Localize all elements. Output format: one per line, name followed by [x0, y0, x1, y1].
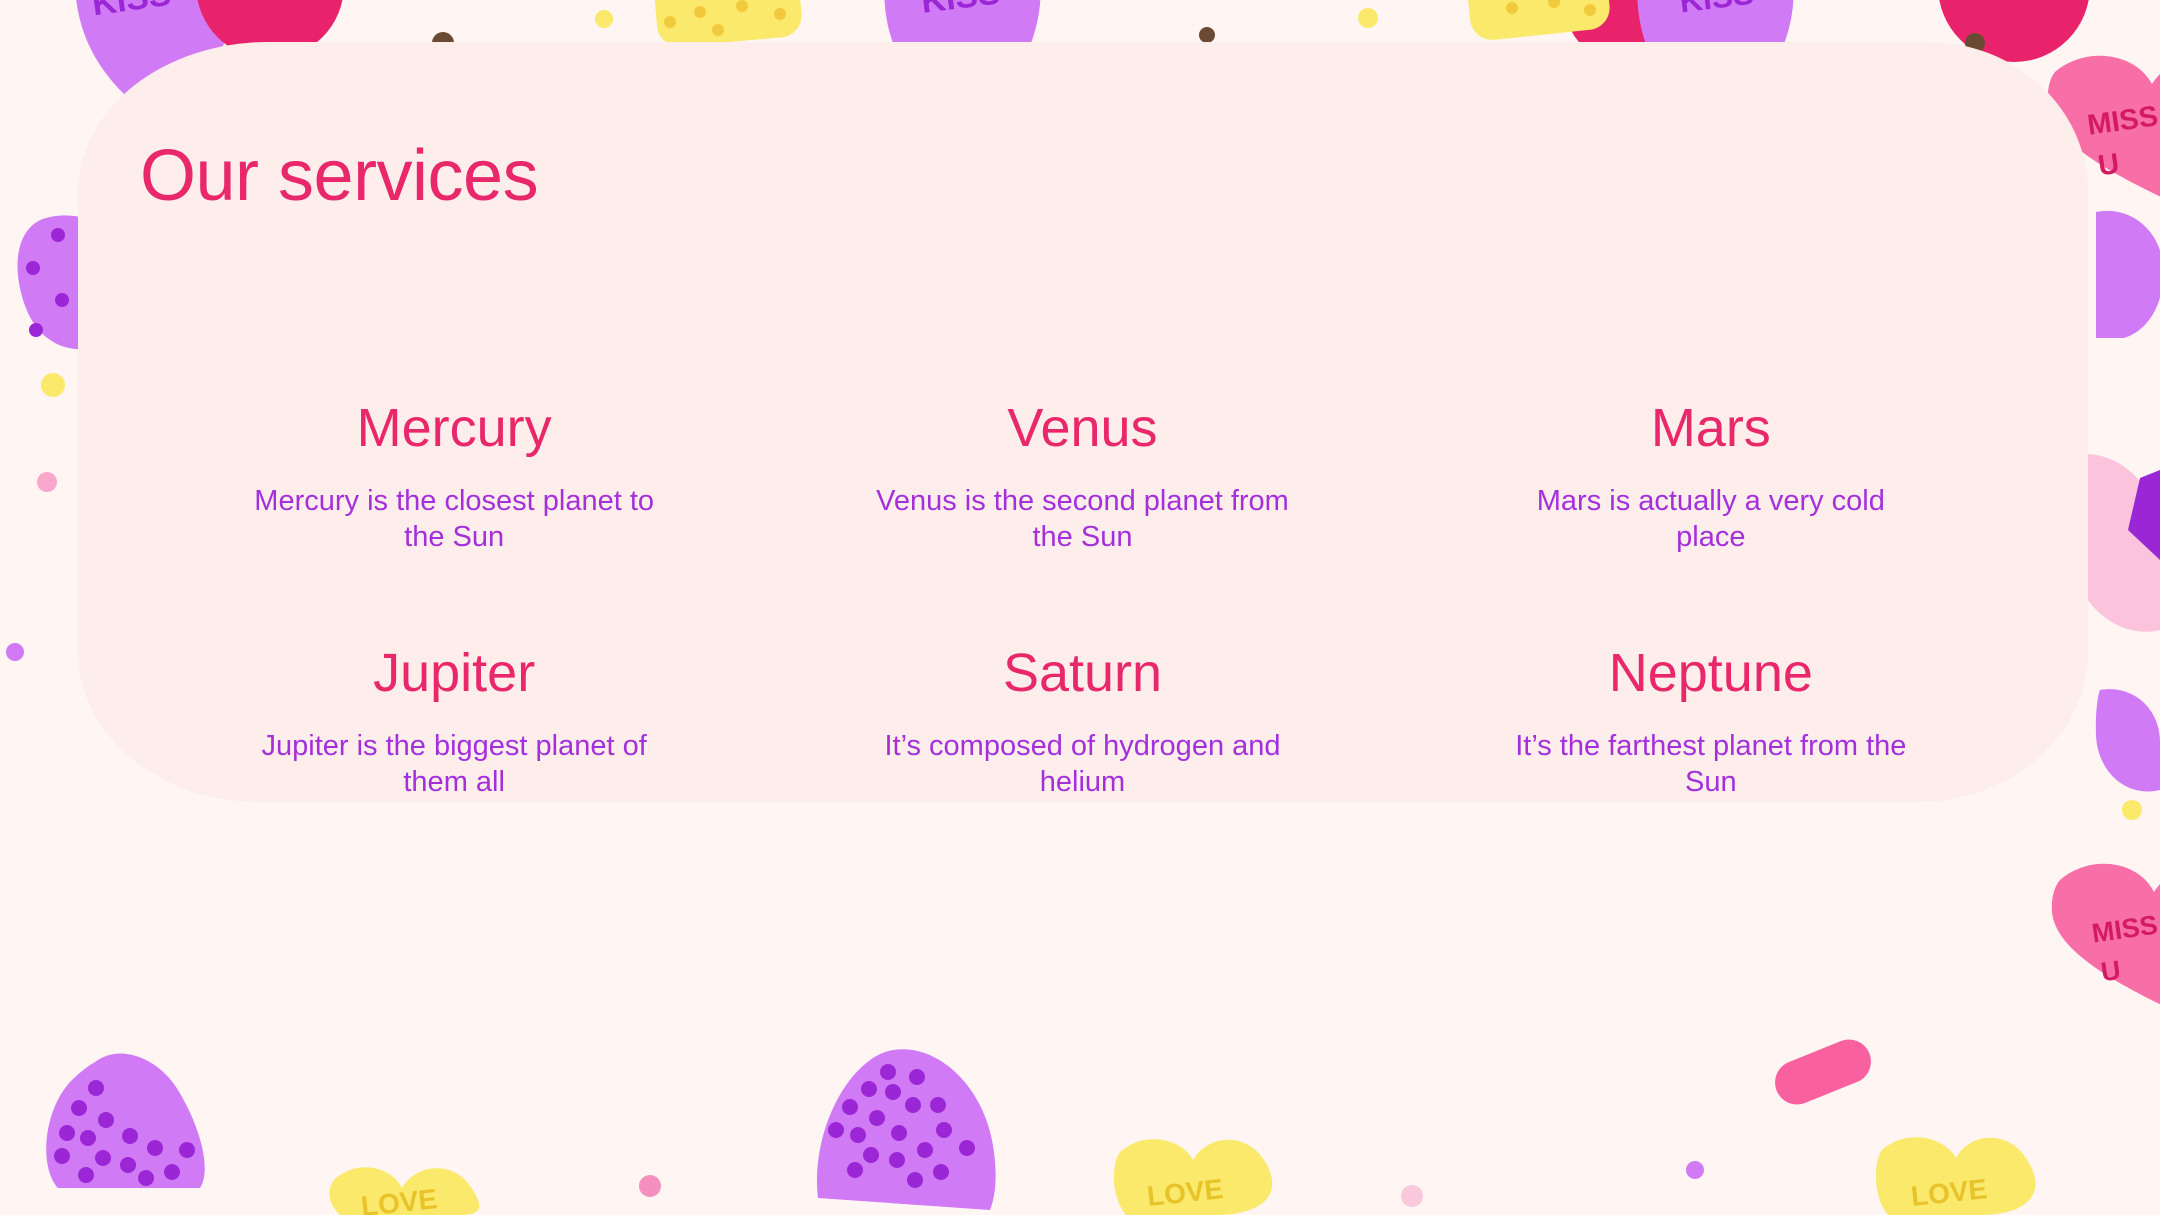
service-item-mercury[interactable]: Mercury Mercury is the closest planet to…	[140, 400, 768, 645]
confetti-dot	[1401, 1185, 1423, 1207]
service-description: Mars is actually a very cold place	[1501, 483, 1921, 556]
service-name: Jupiter	[200, 645, 708, 702]
service-name: Saturn	[828, 645, 1336, 702]
confetti-dot	[41, 373, 65, 397]
service-description: Venus is the second planet from the Sun	[872, 483, 1292, 556]
confetti-dot	[1199, 27, 1215, 43]
service-name: Neptune	[1457, 645, 1965, 702]
confetti-dot	[1358, 8, 1378, 28]
svg-text:U: U	[2096, 148, 2121, 183]
confetti-dot	[37, 472, 57, 492]
service-item-neptune[interactable]: Neptune It’s the farthest planet from th…	[1397, 645, 2025, 890]
service-description: It’s the farthest planet from the Sun	[1501, 728, 1921, 801]
svg-text:U: U	[2099, 955, 2122, 987]
page-title: Our services	[140, 140, 538, 212]
service-description: Mercury is the closest planet to the Sun	[244, 483, 664, 556]
service-name: Mars	[1457, 400, 1965, 457]
confetti-dot	[2122, 800, 2142, 820]
service-description: Jupiter is the biggest planet of them al…	[244, 728, 664, 801]
service-item-saturn[interactable]: Saturn It’s composed of hydrogen and hel…	[768, 645, 1396, 890]
confetti-dot	[6, 643, 24, 661]
service-item-venus[interactable]: Venus Venus is the second planet from th…	[768, 400, 1396, 645]
confetti-dot	[595, 10, 613, 28]
service-item-jupiter[interactable]: Jupiter Jupiter is the biggest planet of…	[140, 645, 768, 890]
confetti-dot	[639, 1175, 661, 1197]
service-name: Venus	[828, 400, 1336, 457]
confetti-dot	[1686, 1161, 1704, 1179]
service-name: Mercury	[200, 400, 708, 457]
services-grid: Mercury Mercury is the closest planet to…	[140, 400, 2025, 890]
service-description: It’s composed of hydrogen and helium	[872, 728, 1292, 801]
service-item-mars[interactable]: Mars Mars is actually a very cold place	[1397, 400, 2025, 645]
